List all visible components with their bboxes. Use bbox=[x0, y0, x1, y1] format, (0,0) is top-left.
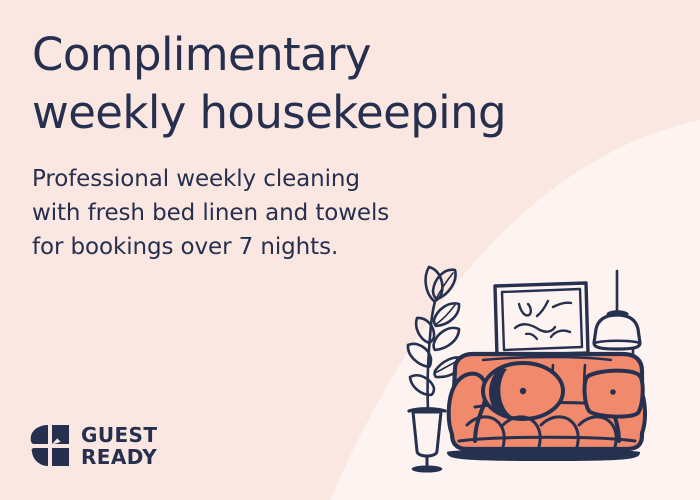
wordmark-line-2: READY bbox=[81, 446, 157, 468]
subcopy-line-3: for bookings over 7 nights. bbox=[32, 230, 506, 264]
guestready-logo[interactable]: GUEST READY bbox=[30, 424, 157, 468]
subcopy-line-2: with fresh bed linen and towels bbox=[32, 196, 506, 230]
wordmark-line-1: GUEST bbox=[81, 424, 157, 446]
subcopy-block: Professional weekly cleaning with fresh … bbox=[32, 162, 506, 264]
subcopy-line-1: Professional weekly cleaning bbox=[32, 162, 506, 196]
living-room-illustration bbox=[395, 255, 700, 500]
headline-line-2: weekly housekeeping bbox=[32, 84, 506, 142]
copy-block: Complimentary weekly housekeeping Profes… bbox=[0, 0, 506, 264]
guestready-logo-mark bbox=[30, 425, 70, 467]
guestready-wordmark: GUEST READY bbox=[81, 424, 157, 468]
headline-line-1: Complimentary bbox=[32, 26, 506, 84]
promo-banner: Complimentary weekly housekeeping Profes… bbox=[0, 0, 700, 500]
